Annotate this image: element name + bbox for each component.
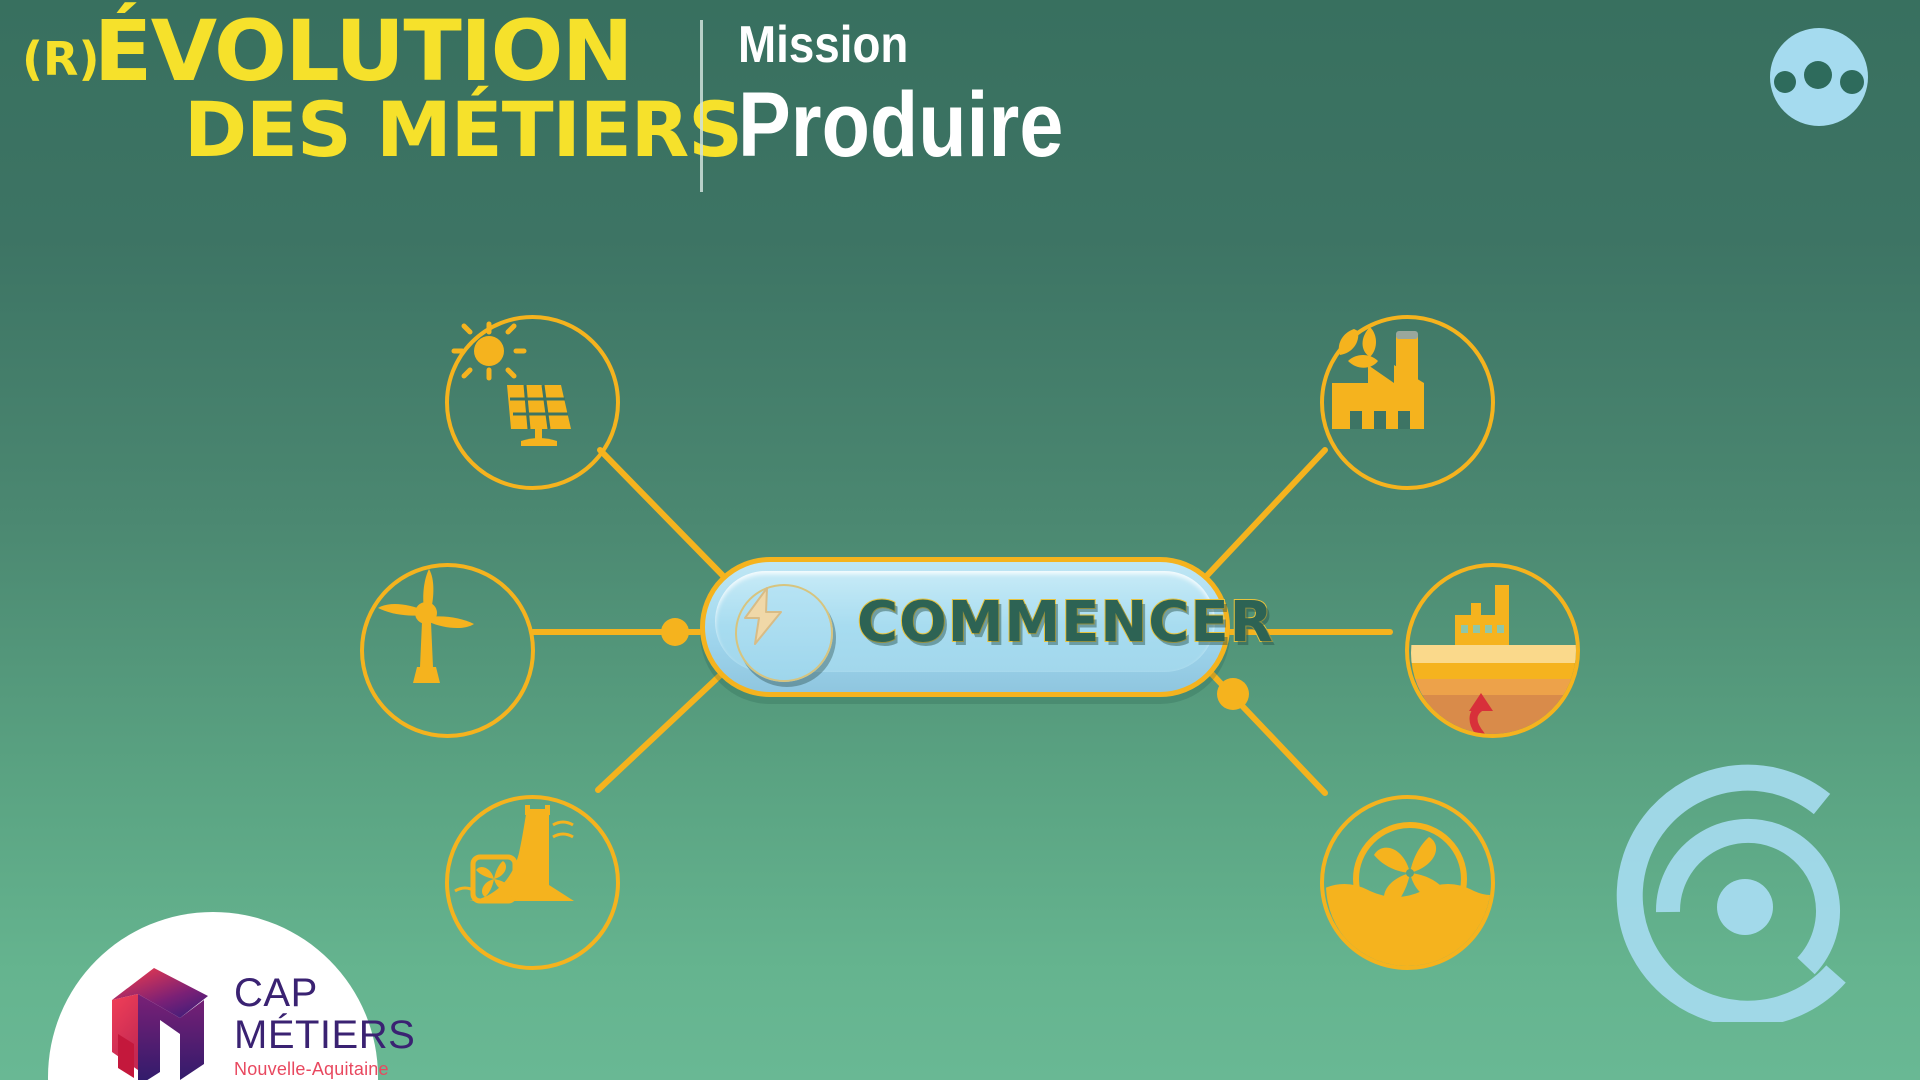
node-hydro-energy[interactable]: [445, 795, 620, 970]
tidal-turbine-icon: [1324, 799, 1495, 970]
commencer-button-label: COMMENCER: [857, 590, 1274, 655]
cap-metiers-mark-icon: [108, 960, 220, 1080]
cap-metiers-line3: Nouvelle-Aquitaine: [234, 1060, 415, 1078]
decorative-arcs: [1610, 752, 1880, 1022]
node-tidal-energy[interactable]: [1320, 795, 1495, 970]
node-eco-factory[interactable]: [1320, 315, 1495, 490]
concentric-arcs-icon: [1610, 752, 1880, 1022]
geothermal-icon: [1409, 567, 1580, 738]
commencer-button[interactable]: COMMENCER: [700, 557, 1230, 697]
cap-metiers-line2: MÉTIERS: [234, 1015, 415, 1055]
node-wind-energy[interactable]: [360, 563, 535, 738]
app-stage: (R) ÉVOLUTION DES MÉTIERS Mission Produi…: [0, 0, 1920, 1080]
hydro-dam-icon: [449, 799, 581, 921]
wind-turbine-icon: [364, 567, 489, 695]
cap-metiers-line1: CAP: [234, 973, 415, 1013]
solar-panel-icon: [449, 319, 579, 449]
eco-factory-icon: [1324, 319, 1454, 447]
lightning-bolt-icon: [737, 586, 789, 646]
lightning-bolt-badge: [735, 584, 833, 682]
node-solar-energy[interactable]: [445, 315, 620, 490]
node-geothermal-energy[interactable]: [1405, 563, 1580, 738]
